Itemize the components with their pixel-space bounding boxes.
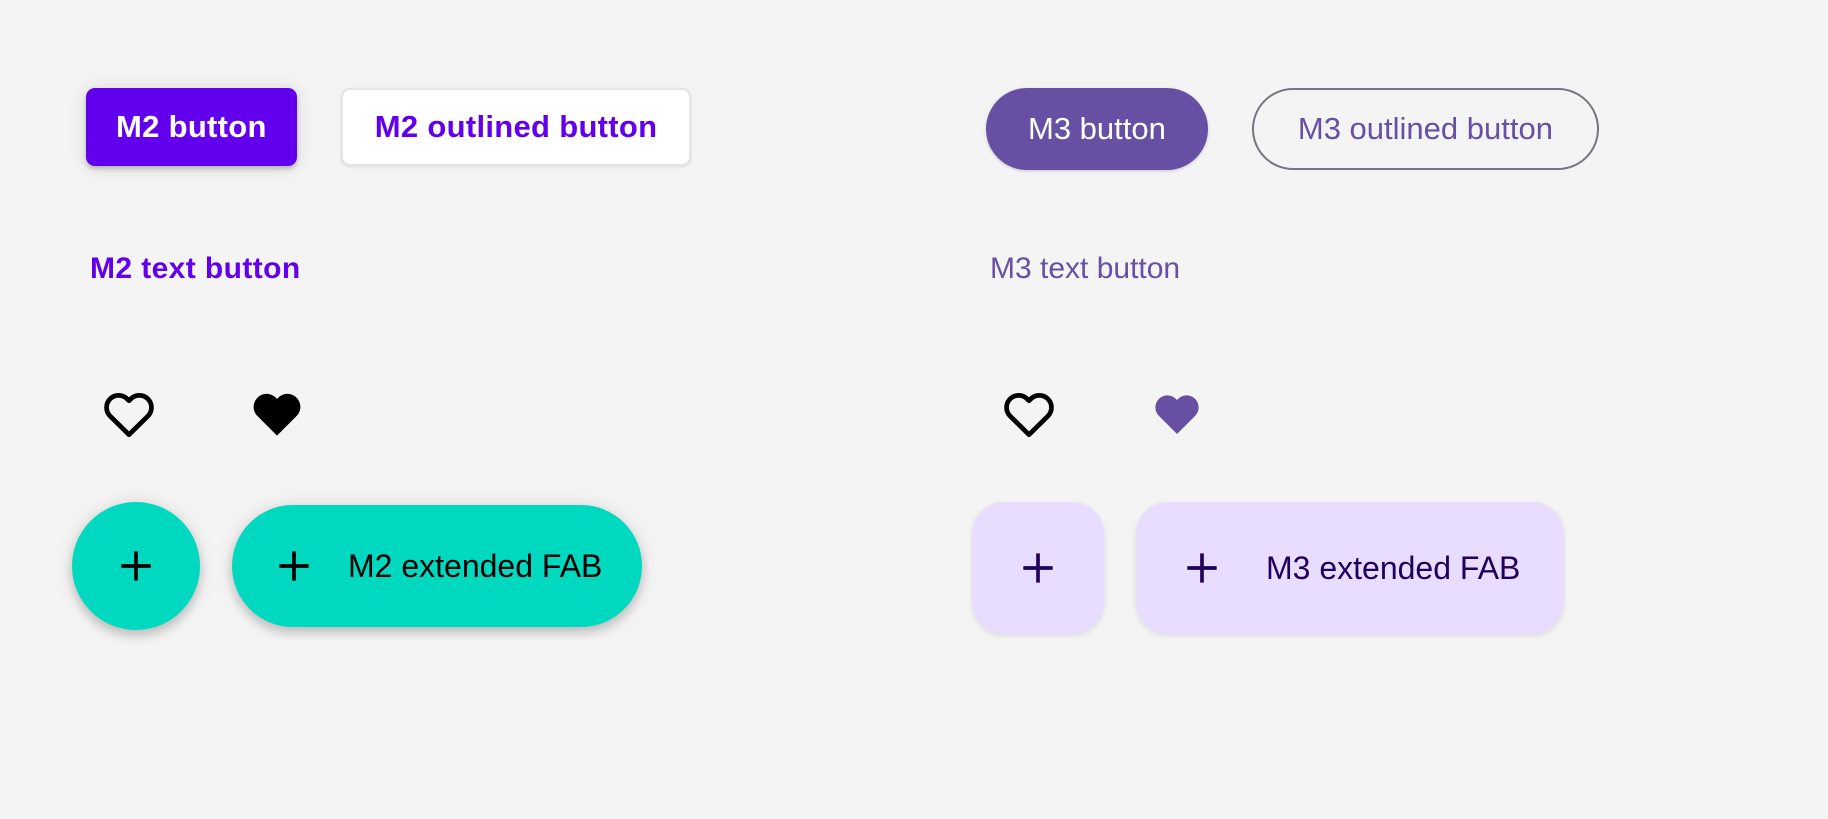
m3-text-button[interactable]: M3 text button xyxy=(990,252,1180,286)
m2-heart-outline-icon-button[interactable] xyxy=(100,385,158,443)
plus-icon xyxy=(272,544,316,588)
plus-icon xyxy=(1016,546,1060,590)
m3-extended-fab-label: M3 extended FAB xyxy=(1266,550,1520,587)
m2-fab-row: M2 extended FAB xyxy=(72,502,642,630)
plus-icon xyxy=(114,544,158,588)
m3-button-row: M3 button M3 outlined button xyxy=(986,88,1599,170)
m2-text-button[interactable]: M2 text button xyxy=(90,252,301,286)
plus-icon xyxy=(1180,546,1224,590)
m3-fab-row: M3 extended FAB xyxy=(972,502,1564,634)
m3-extended-fab[interactable]: M3 extended FAB xyxy=(1136,502,1564,634)
m3-fab[interactable] xyxy=(972,502,1104,634)
heart-filled-icon xyxy=(1152,391,1202,437)
comparison-stage: M2 button M2 outlined button M2 text but… xyxy=(0,0,1828,819)
heart-outline-icon xyxy=(102,389,156,439)
m2-column: M2 button M2 outlined button M2 text but… xyxy=(0,0,900,819)
m2-button-row: M2 button M2 outlined button xyxy=(86,88,691,166)
m2-text-button-row: M2 text button xyxy=(90,252,301,286)
m3-heart-outline-icon-button[interactable] xyxy=(1000,385,1058,443)
m3-text-button-row: M3 text button xyxy=(990,252,1180,286)
m3-heart-filled-icon-button[interactable] xyxy=(1148,385,1206,443)
m2-outlined-button[interactable]: M2 outlined button xyxy=(341,88,692,166)
heart-filled-icon xyxy=(250,389,304,439)
m2-icon-row xyxy=(100,385,306,443)
m2-contained-button[interactable]: M2 button xyxy=(86,88,297,166)
m2-extended-fab-label: M2 extended FAB xyxy=(348,548,602,585)
m3-contained-button[interactable]: M3 button xyxy=(986,88,1208,170)
m3-column: M3 button M3 outlined button M3 text but… xyxy=(900,0,1828,819)
m3-outlined-button[interactable]: M3 outlined button xyxy=(1252,88,1599,170)
heart-outline-icon xyxy=(1002,389,1056,439)
m3-icon-row xyxy=(1000,385,1206,443)
m2-fab[interactable] xyxy=(72,502,200,630)
m2-extended-fab[interactable]: M2 extended FAB xyxy=(232,505,642,627)
m2-heart-filled-icon-button[interactable] xyxy=(248,385,306,443)
